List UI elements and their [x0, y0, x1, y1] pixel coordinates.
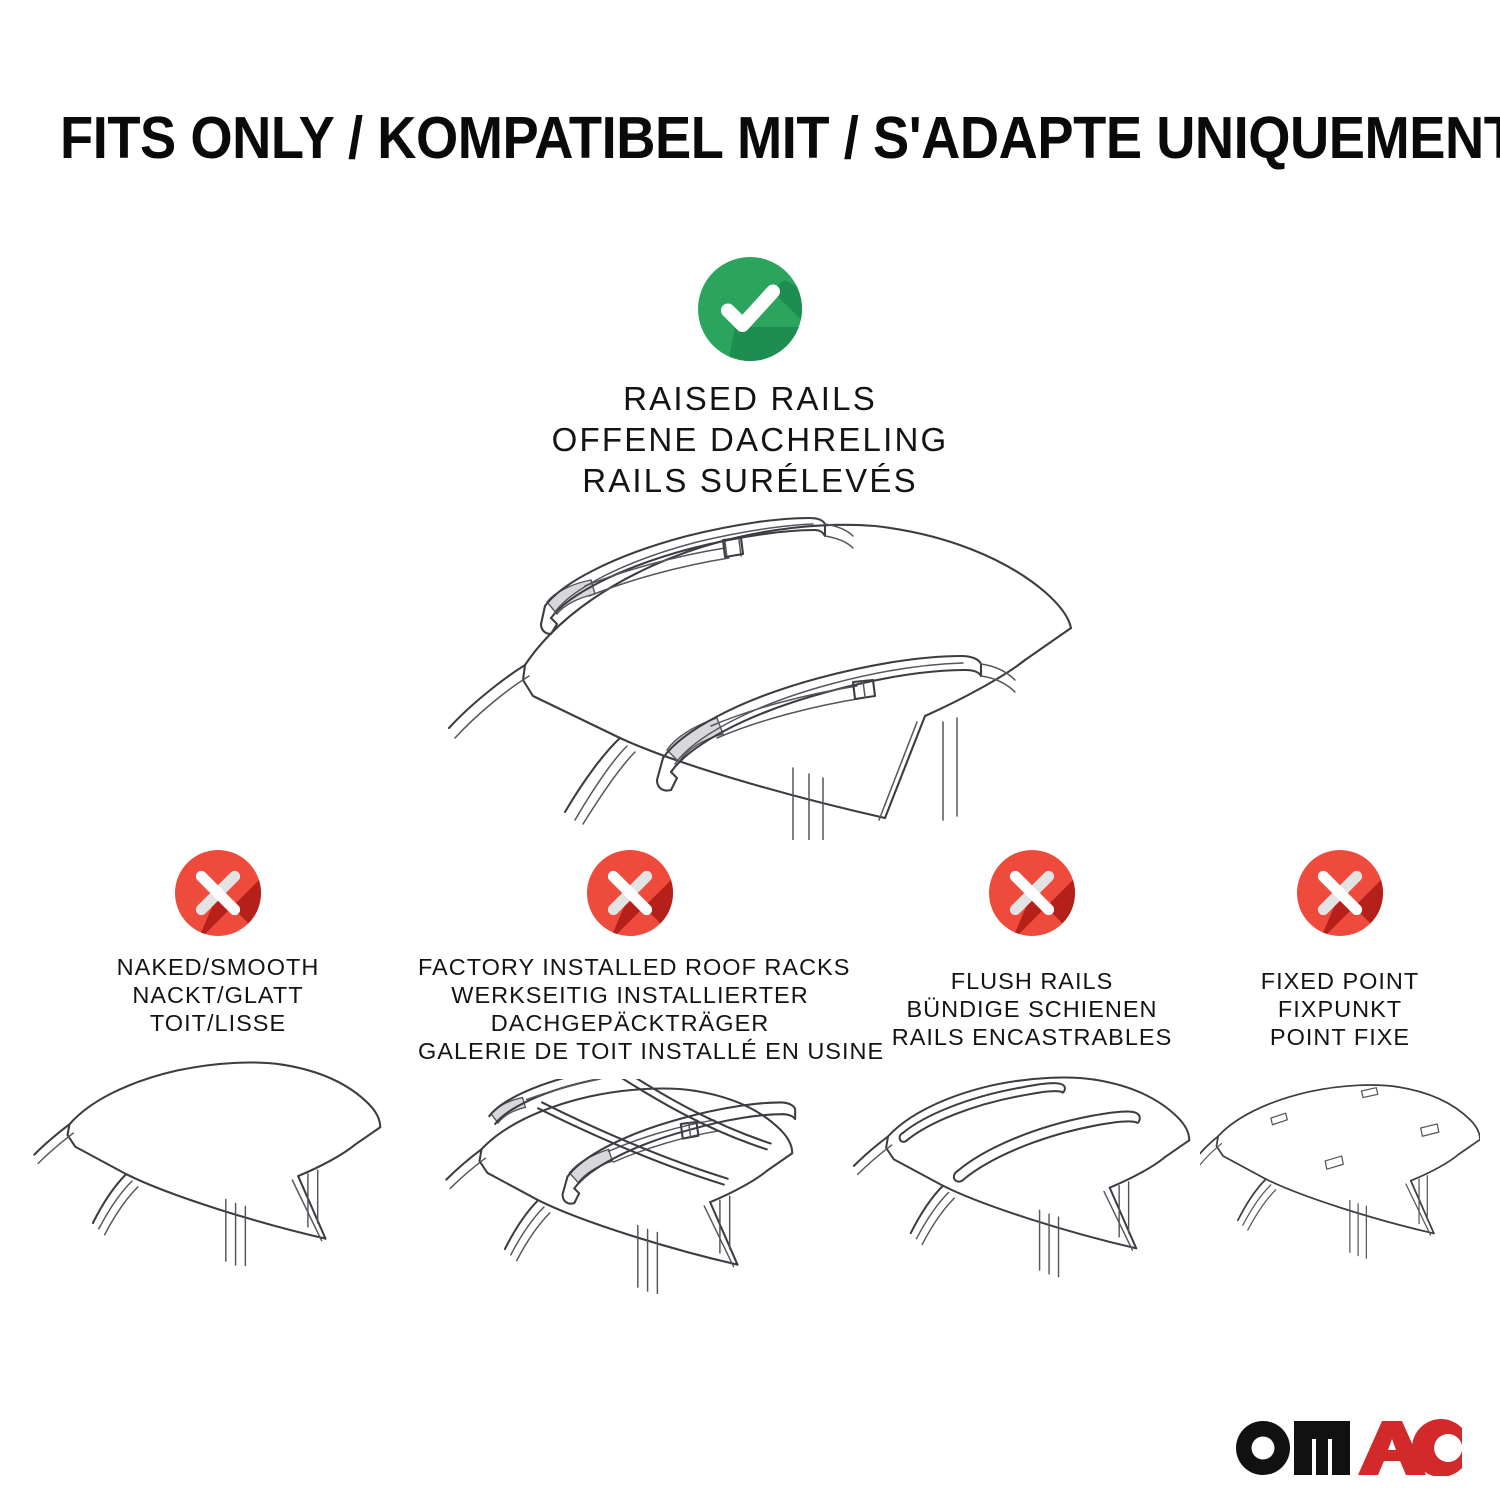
fitment-infographic: FITS ONLY / KOMPATIBEL MIT / S'ADAPTE UN… [0, 0, 1500, 1500]
label-line-en: FACTORY INSTALLED ROOF RACKS [418, 953, 842, 981]
incompatible-labels: FIXED POINT FIXPUNKT POINT FIXE [1200, 967, 1480, 1051]
compatible-label-en: RAISED RAILS [0, 378, 1500, 419]
label-line-de-1: WERKSEITIG INSTALLIERTER [418, 981, 842, 1009]
incompatible-item-naked-smooth: NAKED/SMOOTH NACKT/GLATT TOIT/LISSE [28, 846, 408, 1266]
page-title: FITS ONLY / KOMPATIBEL MIT / S'ADAPTE UN… [60, 104, 1440, 172]
compatible-label-fr: RAILS SURÉLEVÉS [0, 460, 1500, 501]
label-line-de: BÜNDIGE SCHIENEN [852, 995, 1212, 1023]
label-line-fr: RAILS ENCASTRABLES [852, 1023, 1212, 1051]
label-line-en: FLUSH RAILS [852, 967, 1212, 995]
red-x-icon [1293, 846, 1387, 940]
label-line-fr: TOIT/LISSE [28, 1009, 408, 1037]
car-roof-fixed-point-illustration [1200, 1065, 1480, 1280]
compatible-section [0, 252, 1500, 371]
incompatible-labels: FLUSH RAILS BÜNDIGE SCHIENEN RAILS ENCAS… [852, 967, 1212, 1051]
label-line-fr: GALERIE DE TOIT INSTALLÉ EN USINE [418, 1037, 842, 1065]
red-x-icon [985, 846, 1079, 940]
label-line-fr: POINT FIXE [1200, 1023, 1480, 1051]
compatible-labels: RAISED RAILS OFFENE DACHRELING RAILS SUR… [0, 378, 1500, 501]
incompatible-item-factory-racks: FACTORY INSTALLED ROOF RACKS WERKSEITIG … [418, 846, 842, 1294]
omac-logo [1232, 1412, 1462, 1476]
compatible-label-de: OFFENE DACHRELING [0, 419, 1500, 460]
car-roof-flush-rails-illustration [852, 1065, 1212, 1280]
incompatible-item-fixed-point: FIXED POINT FIXPUNKT POINT FIXE [1200, 846, 1480, 1280]
car-roof-naked-smooth-illustration [28, 1051, 408, 1266]
car-roof-factory-installed-racks-illustration [418, 1079, 842, 1294]
label-line-de: NACKT/GLATT [28, 981, 408, 1009]
red-x-icon [171, 846, 265, 940]
car-roof-with-raised-rails-illustration [405, 500, 1105, 840]
incompatible-item-flush-rails: FLUSH RAILS BÜNDIGE SCHIENEN RAILS ENCAS… [852, 846, 1212, 1280]
green-check-icon [693, 252, 807, 366]
label-line-de: FIXPUNKT [1200, 995, 1480, 1023]
incompatible-labels: FACTORY INSTALLED ROOF RACKS WERKSEITIG … [418, 953, 842, 1065]
label-line-de-2: DACHGEPÄCKTRÄGER [418, 1009, 842, 1037]
red-x-icon [583, 846, 677, 940]
label-line-en: NAKED/SMOOTH [28, 953, 408, 981]
label-line-en: FIXED POINT [1200, 967, 1480, 995]
incompatible-labels: NAKED/SMOOTH NACKT/GLATT TOIT/LISSE [28, 953, 408, 1037]
